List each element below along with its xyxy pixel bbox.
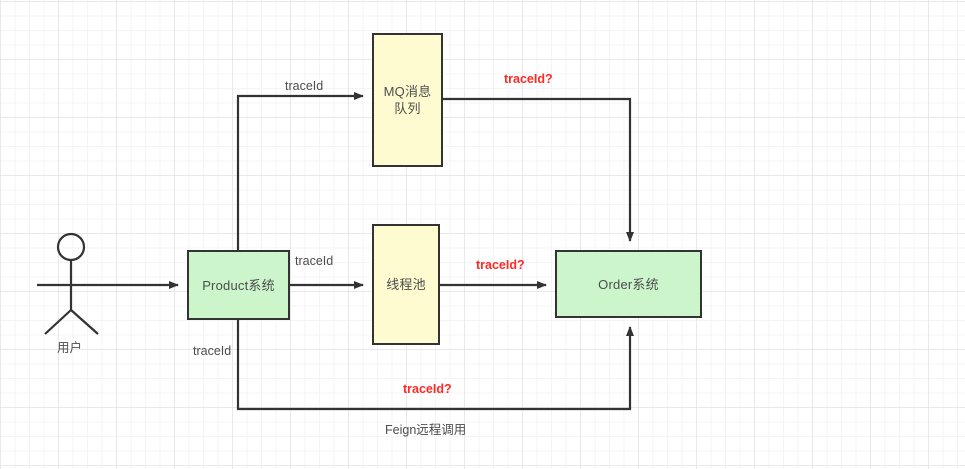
node-mq-queue-label: MQ消息 队列 (384, 83, 432, 117)
node-mq-queue-label-line1: MQ消息 (384, 84, 432, 99)
node-mq-queue-label-line2: 队列 (394, 101, 420, 116)
node-order-system-label: Order系统 (598, 276, 659, 293)
node-mq-queue[interactable]: MQ消息 队列 (372, 33, 443, 167)
edge-label-trace-to-mq: traceId (285, 79, 323, 93)
node-order-system[interactable]: Order系统 (555, 250, 702, 318)
edge-layer (0, 0, 965, 469)
node-product-system[interactable]: Product系统 (187, 250, 290, 320)
edge-product-to-mq (238, 96, 363, 250)
edge-label-trace-feign-out: traceId (193, 344, 231, 358)
node-thread-pool-label: 线程池 (386, 276, 426, 293)
feign-caption: Feign远程调用 (385, 423, 466, 437)
node-thread-pool[interactable]: 线程池 (372, 224, 440, 345)
edge-label-trace-to-threadpool: traceId (295, 254, 333, 268)
diagram-canvas: Product系统 MQ消息 队列 线程池 Order系统 用户 traceId… (0, 0, 965, 469)
user-actor-label: 用户 (57, 341, 82, 355)
node-product-system-label: Product系统 (202, 277, 275, 294)
user-actor-figure (37, 234, 105, 334)
edge-label-trace-feign-in: traceId? (403, 382, 452, 396)
edge-label-trace-from-mq: traceId? (504, 72, 553, 86)
edge-mq-to-order (443, 99, 630, 241)
edge-label-trace-from-threadpool: traceId? (476, 258, 525, 272)
